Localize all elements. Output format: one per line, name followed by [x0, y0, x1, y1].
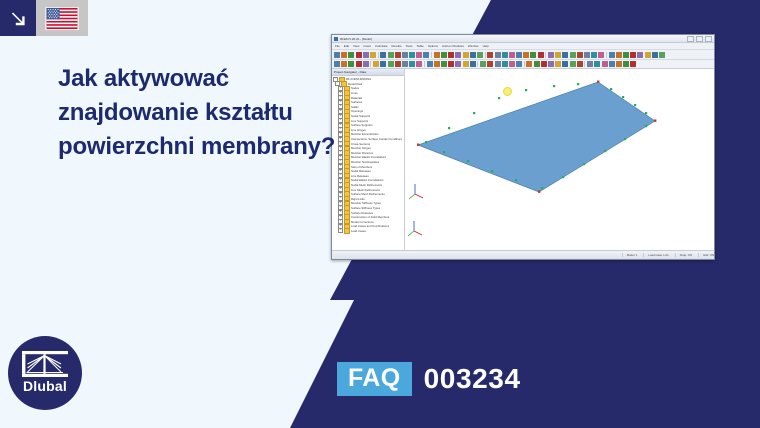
toolbar-icon[interactable] — [616, 61, 622, 67]
faq-badge: FAQ — [337, 362, 412, 396]
toolbar-icon[interactable] — [416, 61, 422, 67]
toolbar-icon[interactable] — [334, 52, 340, 58]
menu-item-file[interactable]: File — [335, 44, 340, 48]
toolbar-icon[interactable] — [555, 52, 561, 58]
toolbar-icon[interactable] — [609, 61, 615, 67]
toolbar-icon[interactable] — [637, 52, 643, 58]
toolbar-icon[interactable] — [455, 61, 461, 67]
toolbar-icon[interactable] — [395, 52, 401, 58]
toolbar-icon[interactable] — [463, 61, 469, 67]
window-title: RFEM 5.26.01 - [Model] — [340, 37, 372, 41]
toolbar-icon[interactable] — [630, 52, 636, 58]
us-flag-icon — [45, 7, 79, 30]
window-controls — [687, 36, 712, 42]
toolbar-icon[interactable] — [630, 61, 636, 67]
menu-item-insert[interactable]: Insert — [363, 44, 371, 48]
toolbar-icon[interactable] — [541, 61, 547, 67]
arrow-down-right-icon — [8, 8, 28, 28]
toolbar-icon[interactable] — [526, 61, 532, 67]
menu-item-options[interactable]: Options — [428, 44, 438, 48]
navigator-item-label: Rigid Links — [351, 197, 365, 201]
toolbar-separator — [524, 61, 525, 67]
membrane-surface-model — [405, 69, 714, 259]
navigator-item-label: Nodal Releases — [351, 169, 371, 173]
toolbar-icon[interactable] — [495, 52, 501, 58]
toolbar-icon[interactable] — [356, 61, 362, 67]
menu-item-edit[interactable]: Edit — [344, 44, 349, 48]
toolbar-icon[interactable] — [502, 61, 508, 67]
toolbar-icon[interactable] — [509, 61, 515, 67]
navigator-item-label: Openings — [351, 109, 363, 113]
navigator-item-label: Materials — [351, 96, 362, 100]
toolbar-icon[interactable] — [441, 61, 447, 67]
status-cell: Grid: ON — [698, 253, 714, 257]
toolbar-icon[interactable] — [427, 61, 433, 67]
toolbar-separator — [424, 61, 425, 67]
menu-item-results[interactable]: Results — [392, 44, 402, 48]
navigator-item-label: Line Releases — [351, 174, 369, 178]
toolbar-icon[interactable] — [434, 52, 440, 58]
menu-bar[interactable]: FileEditViewInsertCalculateResultsToolsT… — [332, 43, 714, 50]
navigator-header: Project Navigator - Data — [332, 69, 404, 76]
toolbar-icon[interactable] — [363, 61, 369, 67]
tree-expander-icon[interactable]: + — [338, 228, 343, 233]
toolbar-separator — [485, 52, 486, 58]
axis-tripod-upper — [409, 184, 423, 199]
toolbar-icon[interactable] — [523, 52, 529, 58]
navigator-item-label: Nodal Elastic Foundations — [351, 178, 384, 182]
navigator-item-label: Member Divisions — [351, 151, 373, 155]
toolbar-icon[interactable] — [395, 61, 401, 67]
toolbar-icon[interactable] — [480, 61, 486, 67]
toolbar-icon[interactable] — [370, 52, 376, 58]
navigator-item-label: Line Mesh Refinements — [351, 188, 380, 192]
toolbar-icon[interactable] — [356, 52, 362, 58]
menu-item-help[interactable]: Help — [483, 44, 489, 48]
toolbar-secondary[interactable] — [332, 60, 714, 69]
toolbar-primary[interactable] — [332, 50, 714, 60]
navigator-item-label: Nodal Mesh Refinements — [351, 183, 382, 187]
slide-canvas: Jak aktywować znajdowanie kształtu powie… — [0, 0, 760, 428]
toolbar-icon[interactable] — [509, 52, 515, 58]
toolbar-icon[interactable] — [584, 52, 590, 58]
navigator-item-label: Construction of Solid Members — [351, 215, 389, 219]
navigator-item-label: Member Hinges — [351, 146, 371, 150]
toolbar-icon[interactable] — [402, 52, 408, 58]
project-navigator-panel[interactable]: Project Navigator - Data -RF-FORM-FINDIN… — [332, 69, 405, 259]
toolbar-icon[interactable] — [562, 61, 568, 67]
status-cell: Load Case: LC1 — [643, 253, 668, 257]
toolbar-icon[interactable] — [502, 52, 508, 58]
language-flag-button[interactable] — [36, 0, 88, 36]
navigator-item-label: Solids — [351, 105, 359, 109]
toolbar-icon[interactable] — [380, 52, 386, 58]
maximize-button[interactable] — [696, 36, 703, 42]
navigator-item-label: Member Stiffness Types — [351, 201, 381, 205]
toolbar-icon[interactable] — [487, 61, 493, 67]
navigator-item-label: Surface Mesh Refinements — [351, 192, 385, 196]
faq-footer: FAQ 003234 — [337, 362, 521, 396]
toolbar-separator — [431, 52, 432, 58]
language-strip — [0, 0, 88, 36]
toolbar-icon[interactable] — [388, 52, 394, 58]
navigator-item-label: Surfaces — [351, 100, 362, 104]
navigator-item-label: Nodes — [351, 86, 359, 90]
menu-item-tools[interactable]: Tools — [406, 44, 413, 48]
status-cell: Model: 1 — [622, 253, 638, 257]
toolbar-icon[interactable] — [416, 52, 422, 58]
toolbar-separator — [584, 61, 585, 67]
close-button[interactable] — [705, 36, 712, 42]
toolbar-separator — [606, 52, 607, 58]
axis-tripod-lower — [408, 221, 422, 236]
toolbar-icon[interactable] — [534, 61, 540, 67]
toolbar-separator — [477, 61, 478, 67]
navigator-item-label: Sets of Members — [351, 165, 372, 169]
status-bar: Model: 1Load Case: LC1Snap: ONGrid: ON — [332, 250, 715, 259]
toolbar-icon[interactable] — [487, 52, 493, 58]
page-title: Jak aktywować znajdowanie kształtu powie… — [58, 62, 338, 164]
toolbar-icon[interactable] — [516, 61, 522, 67]
navigator-item-label: Intersections, Surface Contact Condition… — [351, 137, 402, 141]
toolbar-icon[interactable] — [409, 52, 415, 58]
toolbar-icon[interactable] — [495, 61, 501, 67]
toolbar-icon[interactable] — [530, 52, 536, 58]
toolbar-icon[interactable] — [341, 52, 347, 58]
navigator-tree-item[interactable]: +Load Cases — [333, 229, 404, 234]
toolbar-icon[interactable] — [659, 52, 665, 58]
toolbar-icon[interactable] — [348, 61, 354, 67]
truss-bridge-icon — [22, 351, 68, 377]
toolbar-icon[interactable] — [570, 61, 576, 67]
toolbar-icon[interactable] — [423, 52, 429, 58]
toolbar-icon[interactable] — [577, 61, 583, 67]
toolbar-icon[interactable] — [652, 52, 658, 58]
toolbar-icon[interactable] — [409, 61, 415, 67]
navigator-item-label: Line Supports — [351, 119, 368, 123]
menu-item-window[interactable]: Window — [468, 44, 479, 48]
application-window: RFEM 5.26.01 - [Model] FileEditViewInser… — [331, 34, 715, 260]
toolbar-icon[interactable] — [623, 61, 629, 67]
toolbar-icon[interactable] — [402, 61, 408, 67]
navigator-item-label: Surface Stiffness Types — [351, 206, 380, 210]
toolbar-icon[interactable] — [623, 52, 629, 58]
toolbar-icon[interactable] — [555, 61, 561, 67]
navigator-item-label: Surface Releases — [351, 211, 373, 215]
window-titlebar[interactable]: RFEM 5.26.01 - [Model] — [332, 35, 714, 43]
navigator-item-label: Load Cases and Combinations — [351, 224, 389, 228]
menu-item-table[interactable]: Table — [417, 44, 424, 48]
toolbar-icon[interactable] — [516, 52, 522, 58]
navigator-item-label: Nodal Supports — [351, 114, 370, 118]
toolbar-icon[interactable] — [562, 52, 568, 58]
menu-item-add-on-modules[interactable]: Add-on Modules — [442, 44, 464, 48]
toolbar-icon[interactable] — [470, 52, 476, 58]
toolbar-icon[interactable] — [602, 61, 608, 67]
logo-wordmark: Dlubal — [8, 378, 82, 394]
navigator-item-label: Cross-Sections — [351, 142, 370, 146]
navigator-item-label: Model Data — [348, 82, 362, 86]
model-work-area[interactable] — [405, 69, 714, 259]
toolbar-icon[interactable] — [587, 61, 593, 67]
navigator-item-label: Load Cases — [351, 229, 366, 233]
menu-item-view[interactable]: View — [353, 44, 359, 48]
toolbar-icon[interactable] — [455, 52, 461, 58]
dlubal-logo[interactable]: Dlubal — [8, 336, 82, 410]
toolbar-icon[interactable] — [645, 52, 651, 58]
faq-number: 003234 — [424, 363, 521, 395]
status-cell: Snap: ON — [675, 253, 692, 257]
navigator-tree[interactable]: -RF-FORM-FINDING-Model Data+Nodes+Lines+… — [332, 76, 404, 233]
toolbar-icon[interactable] — [538, 52, 544, 58]
toolbar-icon[interactable] — [598, 52, 604, 58]
toolbar-icon[interactable] — [591, 52, 597, 58]
toolbar-icon[interactable] — [448, 61, 454, 67]
toolbar-icon[interactable] — [441, 52, 447, 58]
arrow-down-right-button[interactable] — [0, 0, 36, 36]
toolbar-icon[interactable] — [594, 61, 600, 67]
toolbar-icon[interactable] — [609, 52, 615, 58]
navigator-item-label: RF-FORM-FINDING — [346, 77, 371, 81]
navigator-item-label: Surface Supports — [351, 123, 373, 127]
membrane-surface — [418, 82, 655, 192]
toolbar-icon[interactable] — [348, 52, 354, 58]
toolbar-icon[interactable] — [388, 61, 394, 67]
window-body: Project Navigator - Data -RF-FORM-FINDIN… — [332, 69, 714, 259]
toolbar-icon[interactable] — [548, 52, 554, 58]
minimize-button[interactable] — [687, 36, 694, 42]
navigator-item-label: Member Eccentricities — [351, 132, 379, 136]
toolbar-icon[interactable] — [373, 61, 379, 67]
toolbar-icon[interactable] — [380, 61, 386, 67]
toolbar-icon[interactable] — [448, 52, 454, 58]
toolbar-icon[interactable] — [363, 52, 369, 58]
toolbar-icon[interactable] — [616, 52, 622, 58]
menu-item-calculate[interactable]: Calculate — [375, 44, 388, 48]
toolbar-icon[interactable] — [570, 52, 576, 58]
navigator-item-label: Lines — [351, 91, 358, 95]
toolbar-icon[interactable] — [434, 61, 440, 67]
toolbar-separator — [378, 52, 379, 58]
toolbar-separator — [545, 52, 546, 58]
toolbar-icon[interactable] — [463, 52, 469, 58]
navigator-item-label: Member Nonlinearities — [351, 160, 379, 164]
app-icon — [334, 37, 338, 41]
folder-icon — [344, 228, 350, 233]
toolbar-icon[interactable] — [470, 61, 476, 67]
navigator-item-label: Member Elastic Foundations — [351, 155, 386, 159]
navigator-item-label: Line Hinges — [351, 128, 366, 132]
navigator-item-label: Model Corrections — [351, 220, 374, 224]
toolbar-icon[interactable] — [548, 61, 554, 67]
toolbar-icon[interactable] — [577, 52, 583, 58]
toolbar-separator — [370, 61, 371, 67]
toolbar-icon[interactable] — [477, 52, 483, 58]
toolbar-icon[interactable] — [341, 61, 347, 67]
